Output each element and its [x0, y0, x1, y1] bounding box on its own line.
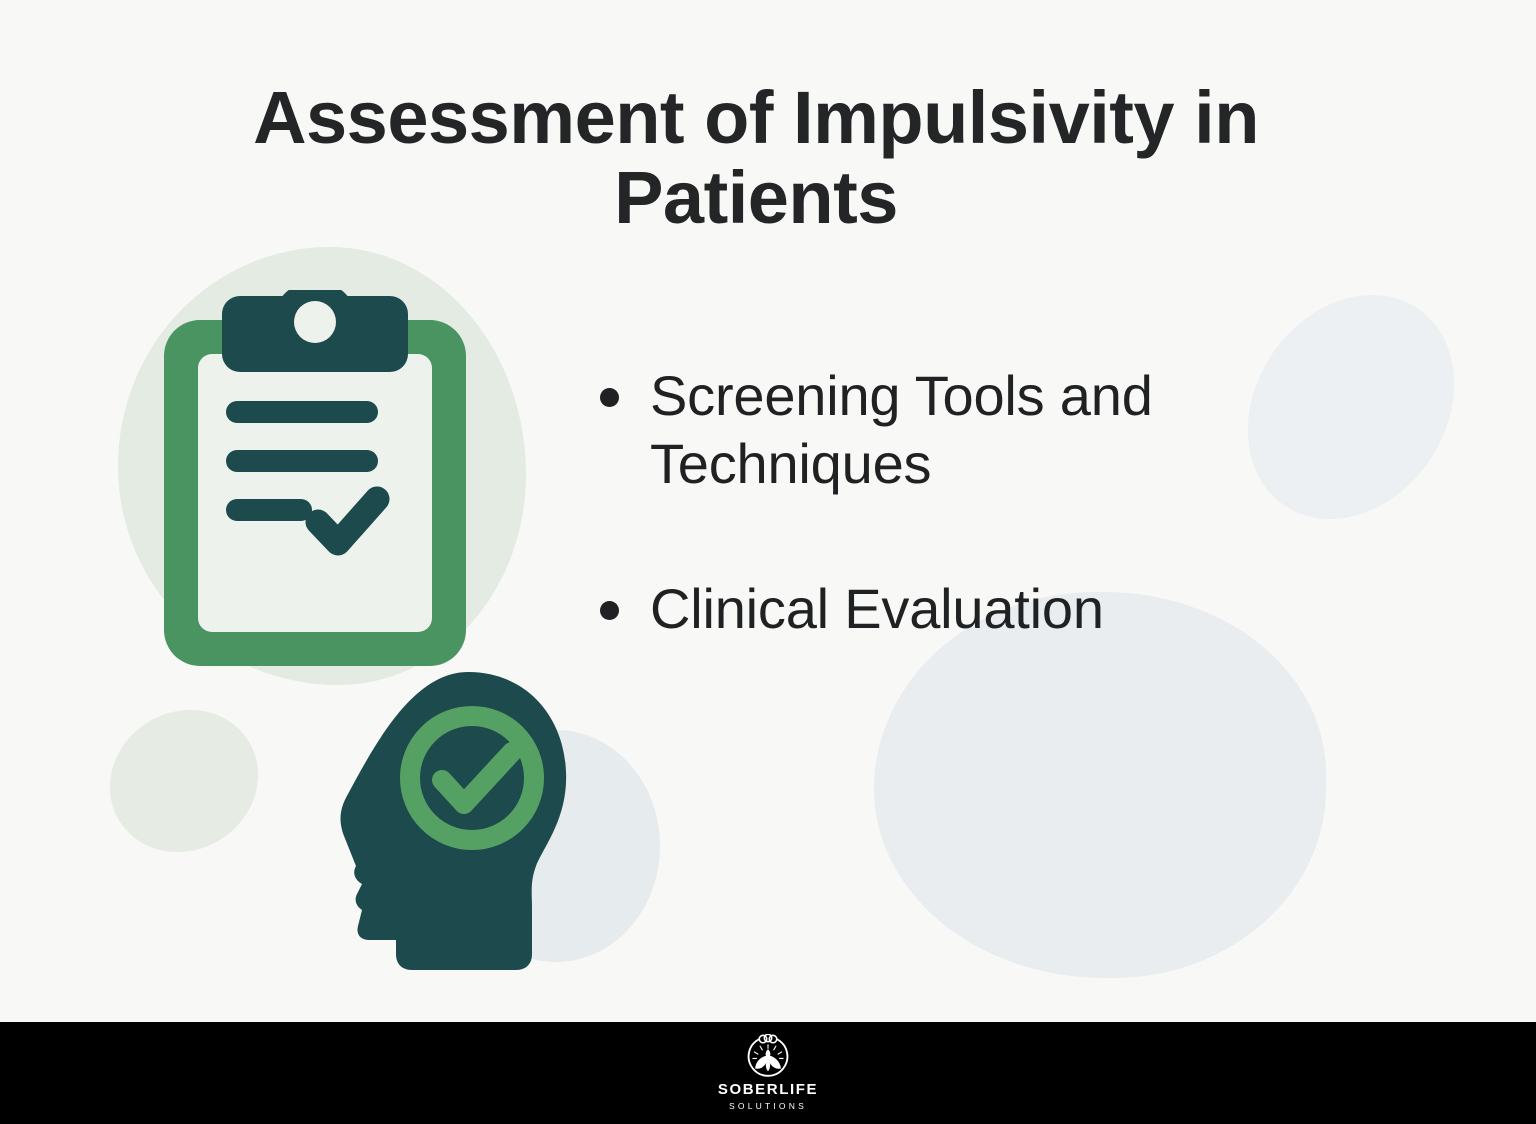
footer-bar: SOBERLIFE SOLUTIONS	[0, 1022, 1536, 1124]
bullet-label: Screening Tools and Techniques	[650, 362, 1360, 499]
bullet-dot-icon	[600, 601, 619, 620]
head-check-icon	[330, 668, 592, 974]
footer-brand-name: SOBERLIFE	[718, 1082, 818, 1099]
slide-title: Assessment of Impulsivity in Patients	[128, 78, 1384, 238]
bullet-list: Screening Tools and Techniques Clinical …	[600, 362, 1360, 643]
list-item: Screening Tools and Techniques	[600, 362, 1360, 499]
decor-blob-grey-large	[874, 592, 1326, 978]
list-item: Clinical Evaluation	[600, 575, 1360, 643]
bullet-label: Clinical Evaluation	[650, 575, 1104, 643]
clipboard-checklist-icon	[160, 290, 470, 670]
slide-canvas: Assessment of Impulsivity in Patients	[0, 0, 1536, 1124]
bullet-dot-icon	[600, 388, 619, 407]
decor-blob-green-small	[83, 682, 285, 880]
footer-brand-subtitle: SOLUTIONS	[729, 1101, 807, 1112]
soberlife-hands-flame-emblem	[745, 1034, 791, 1080]
